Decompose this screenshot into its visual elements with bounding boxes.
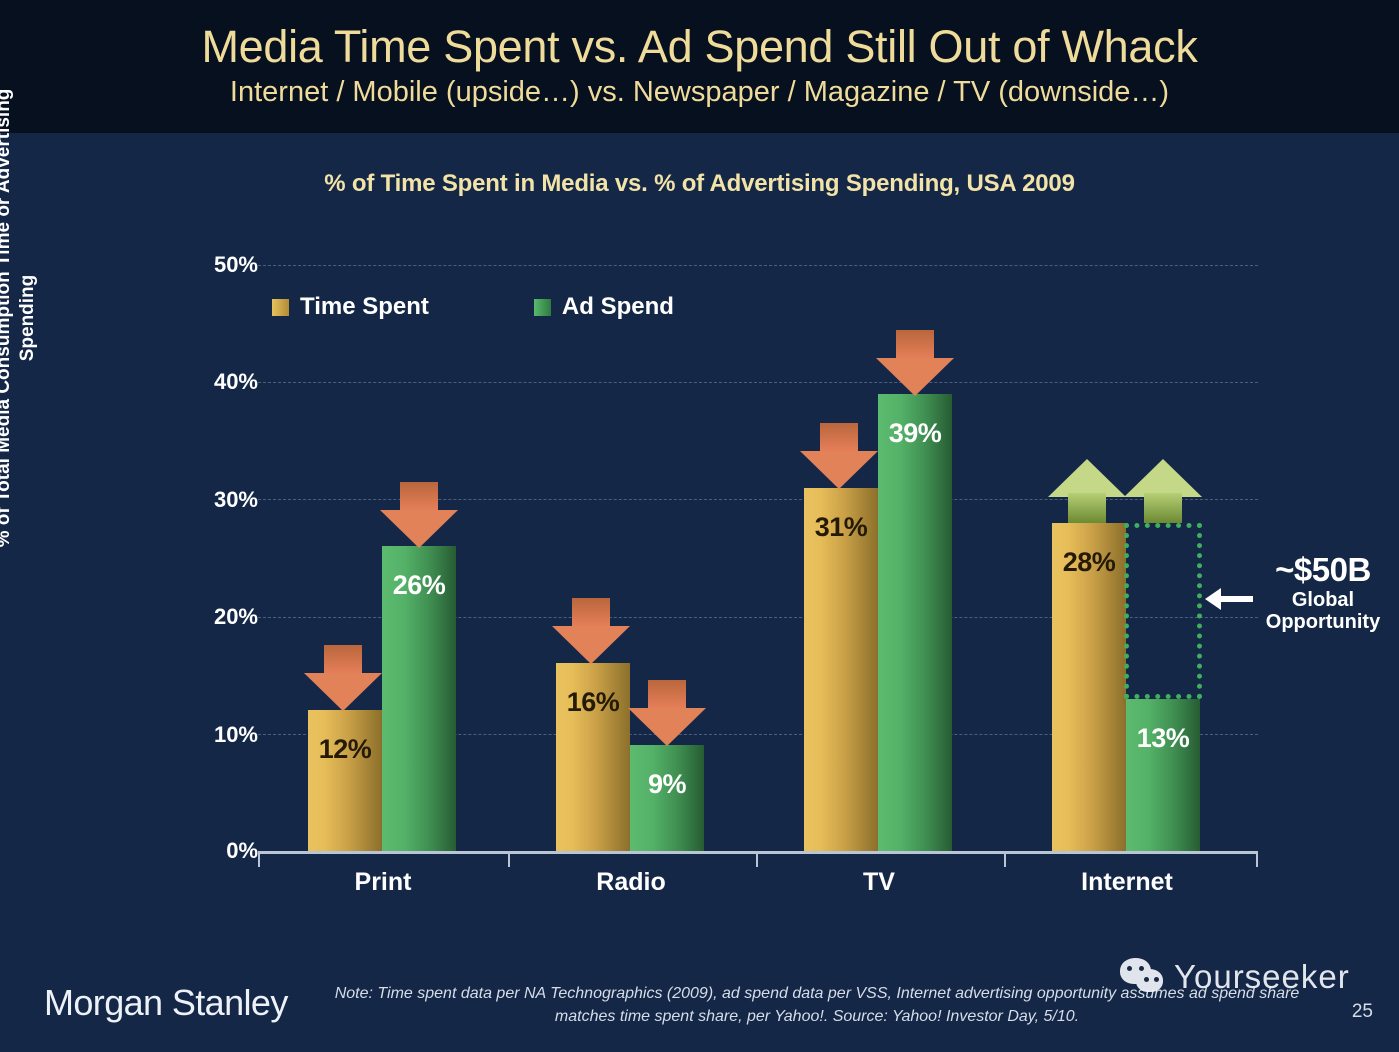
legend-swatch-time-spent-icon [272,299,289,316]
y-axis-label: % of Total Media Consumption Time or Adv… [0,78,41,558]
x-axis-line [258,851,1258,854]
opportunity-sub-line1: Global [1252,589,1394,611]
down-arrow-tv-time-spent [800,423,878,487]
x-label-radio: Radio [501,868,761,897]
down-arrow-print-time-spent [304,645,382,709]
down-arrow-tv-ad-spend [876,330,954,394]
down-arrow-radio-time-spent [552,598,630,662]
bar-radio-ad-spend[interactable]: 9% [630,745,704,851]
chart-title: % of Time Spent in Media vs. % of Advert… [0,170,1399,198]
opportunity-sub-line2: Opportunity [1252,611,1394,633]
axis-tick-radio-tv [756,851,758,867]
legend-label-time-spent: Time Spent [300,293,429,321]
down-arrow-radio-ad-spend [628,680,706,744]
x-label-tv: TV [749,868,1009,897]
footnote-line-1: Note: Time spent data per NA Technograph… [335,985,1207,1002]
y-tick-50: 50% [178,252,258,278]
bar-value-internet-time-spent: 28% [1052,547,1126,578]
y-tick-30: 30% [178,487,258,513]
y-tick-0: 0% [178,838,258,864]
bar-print-time-spent[interactable]: 12% [308,710,382,851]
bar-radio-time-spent[interactable]: 16% [556,663,630,851]
y-tick-10: 10% [178,722,258,748]
x-label-internet: Internet [997,868,1257,897]
wechat-icon [1120,958,1166,996]
gridline-50 [258,265,1258,266]
opportunity-amount: ~$50B [1252,552,1394,589]
watermark: Yourseeker [1120,958,1350,996]
bar-value-internet-ad-spend: 13% [1126,723,1200,754]
chart-legend: Time Spent Ad Spend [272,293,674,321]
plot-area: 12% 26% 16% 9% 31% 39% 28% 13% [258,265,1258,851]
bar-value-tv-time-spent: 31% [804,512,878,543]
axis-tick-start [258,851,260,867]
x-label-print: Print [253,868,513,897]
legend-item-time-spent: Time Spent [272,293,429,321]
slide-title: Media Time Spent vs. Ad Spend Still Out … [201,23,1197,70]
opportunity-pointer-arrow-icon [1205,588,1253,610]
bar-print-ad-spend[interactable]: 26% [382,546,456,851]
y-tick-20: 20% [178,604,258,630]
bar-internet-ad-spend[interactable]: 13% [1126,699,1200,851]
legend-item-ad-spend: Ad Spend [534,293,674,321]
opportunity-annotation: ~$50B Global Opportunity [1252,552,1394,634]
axis-tick-print-radio [508,851,510,867]
bar-value-radio-time-spent: 16% [556,687,630,718]
axis-tick-tv-internet [1004,851,1006,867]
up-arrow-internet-time-spent [1048,459,1126,523]
bar-value-radio-ad-spend: 9% [630,769,704,800]
bar-value-tv-ad-spend: 39% [878,418,952,449]
slide: Media Time Spent vs. Ad Spend Still Out … [0,0,1399,1052]
bar-tv-ad-spend[interactable]: 39% [878,394,952,851]
opportunity-box [1124,523,1202,699]
bar-value-print-ad-spend: 26% [382,570,456,601]
legend-label-ad-spend: Ad Spend [562,293,674,321]
bar-value-print-time-spent: 12% [308,734,382,765]
watermark-text: Yourseeker [1174,958,1350,996]
y-tick-40: 40% [178,369,258,395]
gridline-40 [258,382,1258,383]
axis-tick-end [1256,851,1258,867]
bar-tv-time-spent[interactable]: 31% [804,488,878,851]
slide-header: Media Time Spent vs. Ad Spend Still Out … [0,0,1399,133]
slide-subtitle: Internet / Mobile (upside…) vs. Newspape… [230,74,1169,110]
morgan-stanley-logo: Morgan Stanley [44,982,288,1024]
bar-internet-time-spent[interactable]: 28% [1052,523,1126,851]
page-number: 25 [1352,1001,1373,1023]
legend-swatch-ad-spend-icon [534,299,551,316]
up-arrow-internet-ad-spend [1124,459,1202,523]
down-arrow-print-ad-spend [380,482,458,546]
